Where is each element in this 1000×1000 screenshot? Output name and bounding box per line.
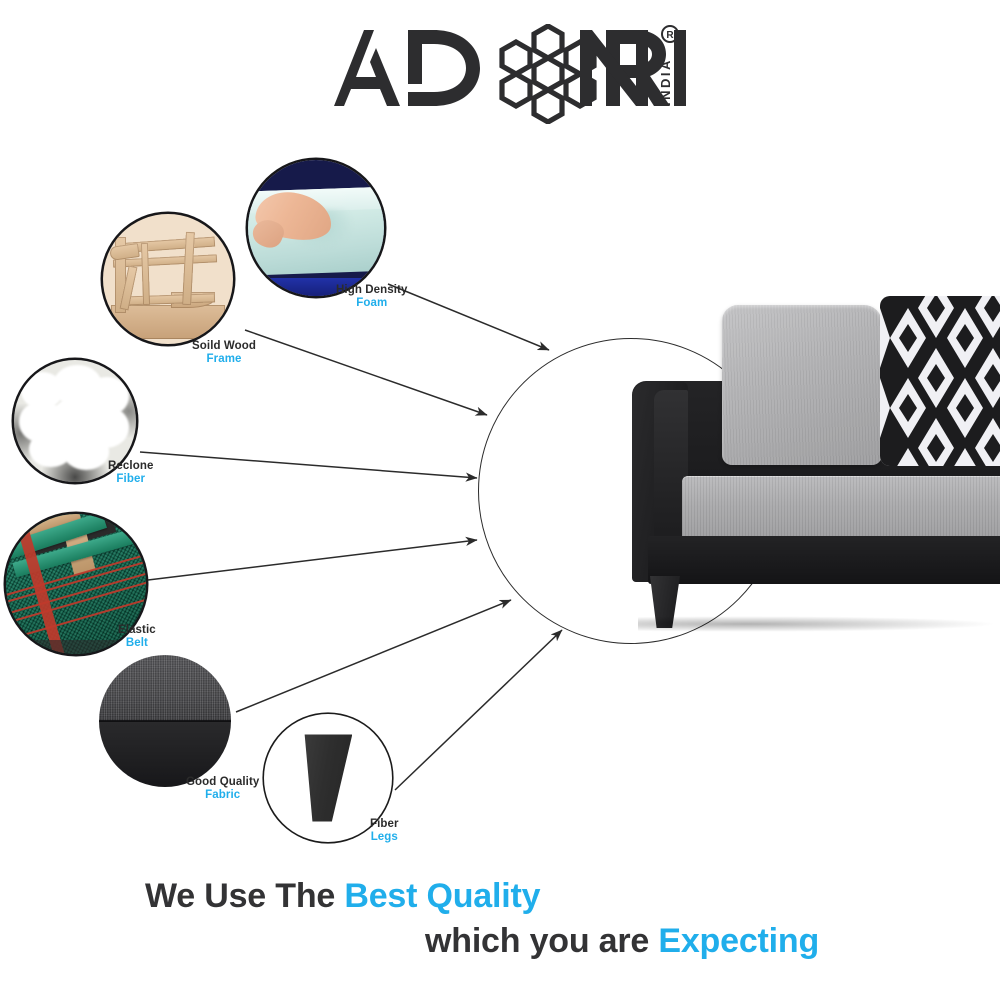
patterned-cushion — [880, 296, 1000, 466]
fabric-grey-half — [99, 655, 231, 721]
callout-line1: High Density — [336, 284, 408, 297]
fiber-tuft — [41, 416, 78, 448]
feature-swatch-good-quality-fabric — [99, 655, 231, 787]
callout-good-quality-fabric: Good Quality Fabric — [186, 776, 259, 802]
callout-line2: Belt — [118, 637, 156, 650]
logo-n-india-svg: R INDIA — [578, 24, 698, 124]
brand-logo: R INDIA — [330, 24, 700, 124]
callout-line2: Frame — [192, 353, 256, 366]
fiber-tuft — [70, 382, 102, 411]
callout-line1: Fiber — [370, 818, 399, 831]
callout-fiber-legs: Fiber Legs — [370, 818, 399, 844]
arrow-to-frame — [245, 330, 487, 415]
callout-line1: Elastic — [118, 624, 156, 637]
callout-reclone-fiber: Reclone Fiber — [108, 460, 153, 486]
callout-line1: Good Quality — [186, 776, 259, 789]
callout-line2: Fiber — [108, 473, 153, 486]
infographic-canvas: R INDIA — [0, 0, 1000, 1000]
sofa-image — [632, 286, 1000, 646]
arrow-to-fabric — [236, 600, 511, 712]
tagline: We Use The Best Quality which you are Ex… — [0, 878, 1000, 959]
arrow-to-foam — [388, 284, 549, 350]
callout-line2: Foam — [336, 297, 408, 310]
callout-line1: Reclone — [108, 460, 153, 473]
tagline-line1-plain: We Use The — [145, 877, 344, 915]
feature-swatch-soild-wood-frame — [103, 214, 233, 344]
tagline-line1-accent: Best Quality — [344, 877, 540, 915]
svg-text:R: R — [666, 30, 674, 41]
diamond-pattern-icon — [880, 296, 1000, 466]
feature-swatch-high-density-foam — [248, 160, 384, 296]
back-cushion-grey — [722, 305, 882, 465]
arrow-to-legs — [395, 630, 562, 790]
fabric-seam — [99, 720, 231, 723]
callout-line2: Fabric — [186, 789, 259, 802]
callout-high-density-foam: High Density Foam — [336, 284, 408, 310]
tagline-line2-accent: Expecting — [658, 922, 819, 960]
tagline-line2-plain: which you are — [425, 922, 658, 960]
sofa-seat-cushion — [682, 476, 1000, 542]
arrow-to-belt — [148, 540, 477, 580]
sofa-leg-icon — [304, 734, 353, 821]
sofa-base — [648, 536, 1000, 584]
callout-elastic-belt: Elastic Belt — [118, 624, 156, 650]
logo-india-text: INDIA — [658, 58, 673, 106]
tagline-line-1: We Use The Best Quality — [0, 878, 1000, 915]
callout-line2: Legs — [370, 831, 399, 844]
sofa-shadow — [638, 616, 998, 632]
tagline-line-2: which you are Expecting — [0, 923, 1000, 960]
callout-soild-wood-frame: Soild Wood Frame — [192, 340, 256, 366]
callout-line1: Soild Wood — [192, 340, 256, 353]
arrow-to-fiber — [140, 452, 477, 478]
frame-post-middle — [141, 242, 150, 305]
